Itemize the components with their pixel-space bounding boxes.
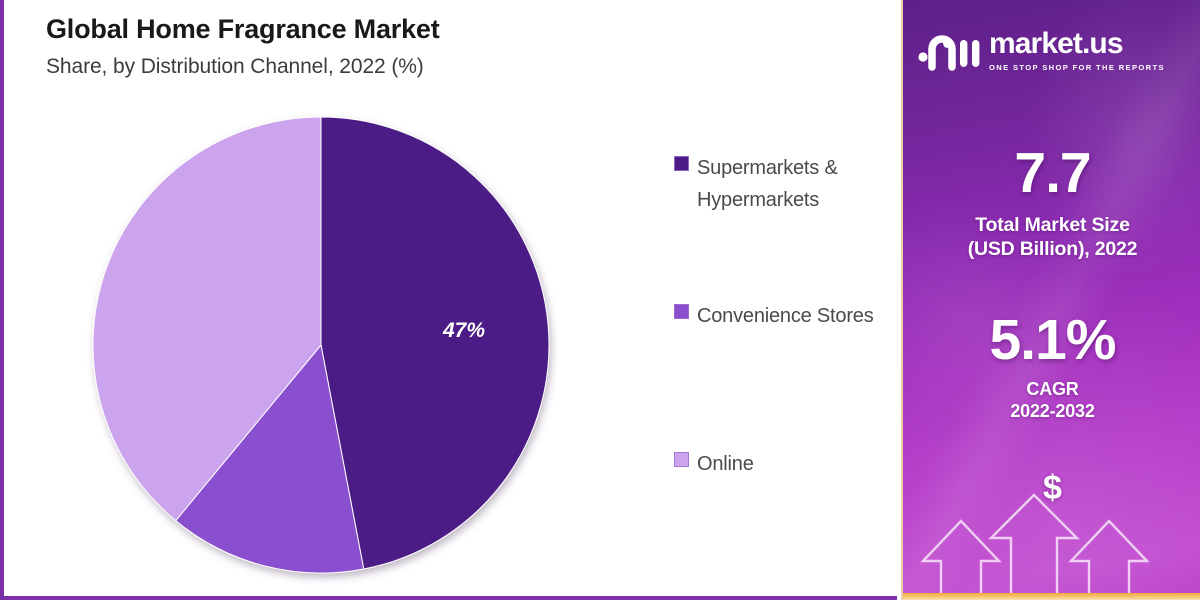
stat-caption-line-2: 2022-2032 — [903, 401, 1200, 423]
legend-item-label: Convenience Stores — [697, 300, 874, 332]
stat-caption-line-2: (USD Billion), 2022 — [903, 238, 1200, 262]
market-us-logo-icon — [917, 27, 985, 73]
legend-item-label: Online — [697, 448, 754, 480]
legend-item-label: Supermarkets & Hypermarkets — [697, 152, 889, 217]
stat-value: 7.7 — [903, 145, 1200, 202]
logo-tagline: ONE STOP SHOP FOR THE REPORTS — [989, 63, 1165, 72]
panel-bottom-stripe — [903, 593, 1200, 600]
page-title: Global Home Fragrance Market — [46, 14, 746, 46]
growth-arrows-icon — [903, 443, 1200, 593]
stat-caption-line-1: CAGR — [903, 379, 1200, 401]
stat-caption: CAGR 2022-2032 — [903, 379, 1200, 423]
brand-logo[interactable]: market.us ONE STOP SHOP FOR THE REPORTS — [917, 24, 1189, 76]
legend-swatch-icon — [674, 452, 689, 467]
logo-text: market.us ONE STOP SHOP FOR THE REPORTS — [989, 29, 1165, 72]
chart-subtitle: Share, by Distribution Channel, 2022 (%) — [46, 54, 746, 79]
pie-chart: 47% — [81, 105, 561, 585]
logo-wordmark: market.us — [989, 29, 1165, 59]
legend-item-online[interactable]: Online — [674, 448, 889, 480]
chart-infographic: Global Home Fragrance Market Share, by D… — [0, 0, 1200, 600]
stats-panel: market.us ONE STOP SHOP FOR THE REPORTS … — [901, 0, 1200, 600]
legend-swatch-icon — [674, 156, 689, 171]
chart-card: Global Home Fragrance Market Share, by D… — [0, 0, 897, 600]
pie-slices — [93, 117, 549, 573]
legend-swatch-icon — [674, 304, 689, 319]
stat-cagr: 5.1% CAGR 2022-2032 — [903, 312, 1200, 423]
pie-slice-supermarkets-hypermarkets — [321, 117, 549, 569]
stat-caption-line-1: Total Market Size — [903, 214, 1200, 238]
stat-value: 5.1% — [903, 312, 1200, 369]
legend-item-supermarkets-hypermarkets[interactable]: Supermarkets & Hypermarkets — [674, 152, 889, 217]
legend-item-convenience-stores[interactable]: Convenience Stores — [674, 300, 889, 332]
title-block: Global Home Fragrance Market Share, by D… — [46, 14, 746, 79]
pie-slice-label-supermarkets: 47% — [442, 319, 485, 342]
pie-svg: 47% — [81, 105, 561, 585]
stat-total-market-size: 7.7 Total Market Size (USD Billion), 202… — [903, 145, 1200, 262]
stat-caption: Total Market Size (USD Billion), 2022 — [903, 214, 1200, 262]
